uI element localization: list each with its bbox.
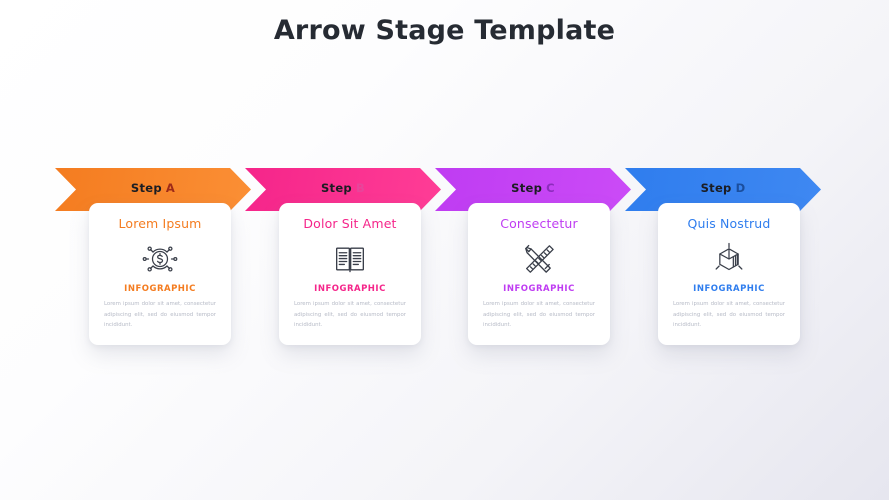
infographic-canvas: Arrow Stage Template StepA StepB StepC S… <box>0 0 889 500</box>
cube-box-icon <box>668 237 790 281</box>
step-letter-d: D <box>736 181 746 195</box>
step-letter-c: C <box>546 181 555 195</box>
card-body-b: Lorem ipsum dolor sit amet, consectetur … <box>289 299 411 331</box>
step-word-d: Step <box>701 181 732 195</box>
card-title-a: Lorem Ipsum <box>99 216 221 231</box>
stage-card-c[interactable]: Consectetur INFOGRAPHIC Lorem ipsum dolo… <box>468 203 610 345</box>
card-body-a: Lorem ipsum dolor sit amet, consectetur … <box>99 299 221 331</box>
card-subtitle-c: INFOGRAPHIC <box>478 284 600 294</box>
step-word-b: Step <box>321 181 352 195</box>
pencil-ruler-icon <box>478 237 600 281</box>
card-subtitle-b: INFOGRAPHIC <box>289 284 411 294</box>
card-title-d: Quis Nostrud <box>668 216 790 231</box>
step-letter-b: B <box>356 181 365 195</box>
page-title: Arrow Stage Template <box>0 15 889 46</box>
card-title-b: Dolor Sit Amet <box>289 216 411 231</box>
stage-card-d[interactable]: Quis Nostrud INFOGRAPHIC Lorem ipsum dol… <box>658 203 800 345</box>
stage-card-b[interactable]: Dolor Sit Amet INFOGRAPHIC Lorem ipsum d… <box>279 203 421 345</box>
card-subtitle-a: INFOGRAPHIC <box>99 284 221 294</box>
card-body-c: Lorem ipsum dolor sit amet, consectetur … <box>478 299 600 331</box>
step-letter-a: A <box>166 181 175 195</box>
card-title-c: Consectetur <box>478 216 600 231</box>
open-book-icon <box>289 237 411 281</box>
stage-card-a[interactable]: Lorem Ipsum INFOGRAPHIC Lorem ipsum dolo… <box>89 203 231 345</box>
step-word-c: Step <box>511 181 542 195</box>
card-subtitle-d: INFOGRAPHIC <box>668 284 790 294</box>
step-word-a: Step <box>131 181 162 195</box>
money-network-icon <box>99 237 221 281</box>
card-body-d: Lorem ipsum dolor sit amet, consectetur … <box>668 299 790 331</box>
